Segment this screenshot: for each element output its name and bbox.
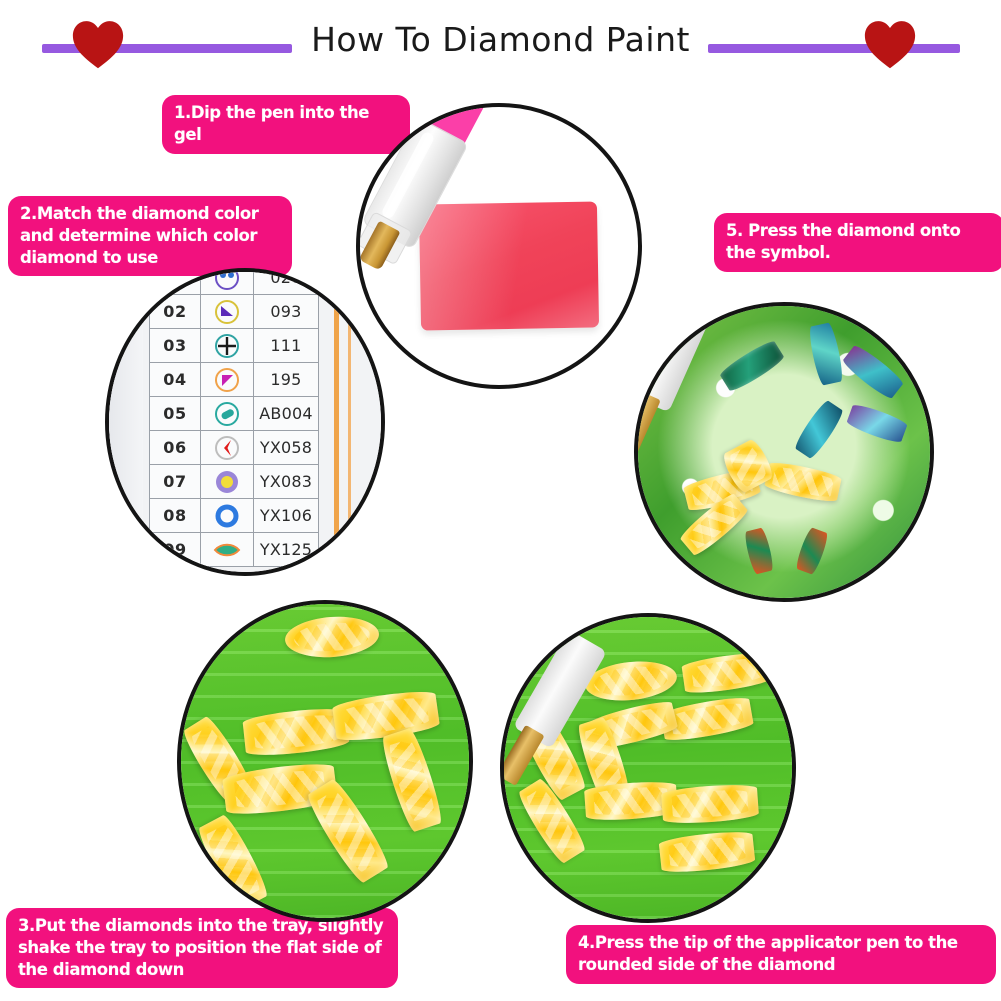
tray-diamond <box>379 727 446 834</box>
red-arrow-left-symbol <box>201 431 254 465</box>
tray-diamond <box>194 812 271 911</box>
canvas-gem <box>718 338 786 394</box>
legend-number: 04 <box>150 363 201 397</box>
green-leaf-symbol <box>201 533 254 567</box>
poster-canvas: How To Diamond Paint 1.Dip the pen into … <box>0 0 1001 1001</box>
magenta-triangle-symbol <box>201 363 254 397</box>
yellow-dot-symbol <box>201 465 254 499</box>
step-5-label: 5. Press the diamond onto the symbol. <box>714 213 1001 272</box>
legend-row: 01020 <box>150 268 319 295</box>
step-3-photo <box>177 600 473 922</box>
step-5-photo <box>634 302 934 602</box>
pen-tip <box>634 391 661 453</box>
tray-diamond <box>658 830 755 876</box>
legend-code: YX058 <box>254 431 319 465</box>
legend-row: 09YX125 <box>150 533 319 567</box>
step-4-photo <box>500 613 796 923</box>
legend-row: 08YX106 <box>150 499 319 533</box>
legend-number: 03 <box>150 329 201 363</box>
canvas-gem <box>807 322 845 386</box>
legend-row: 07YX083 <box>150 465 319 499</box>
diamond-tray <box>504 617 792 919</box>
step-1-photo <box>356 103 642 389</box>
legend-code: 020 <box>254 268 319 295</box>
gel-pad <box>419 201 599 330</box>
applicator-pen <box>634 302 722 476</box>
legend-row: 05AB004 <box>150 397 319 431</box>
color-legend-table: 0102002093031110419505AB00406YX05807YX08… <box>149 268 319 567</box>
teal-capsule-symbol <box>201 397 254 431</box>
legend-number: 01 <box>150 268 201 295</box>
double-dot-circle-symbol <box>201 268 254 295</box>
canvas-gem <box>841 342 906 401</box>
chart-orange-stripe-secondary <box>348 272 351 572</box>
purple-triangle-symbol <box>201 295 254 329</box>
legend-code: 111 <box>254 329 319 363</box>
pen-tip <box>500 725 545 786</box>
diamond-tray <box>181 604 469 918</box>
tray-diamond <box>283 613 380 659</box>
canvas-gem <box>792 398 845 460</box>
legend-number: 09 <box>150 533 201 567</box>
legend-number: 05 <box>150 397 201 431</box>
legend-code: 195 <box>254 363 319 397</box>
chart-orange-stripe <box>334 272 339 572</box>
page-title: How To Diamond Paint <box>0 20 1001 59</box>
tray-diamond <box>661 783 759 826</box>
legend-number: 08 <box>150 499 201 533</box>
legend-code: YX083 <box>254 465 319 499</box>
legend-number: 06 <box>150 431 201 465</box>
tray-diamond <box>681 650 771 696</box>
step-2-photo: 0102002093031110419505AB00406YX05807YX08… <box>105 268 385 576</box>
legend-row: 03111 <box>150 329 319 363</box>
tray-diamond <box>304 777 393 886</box>
poster-header: How To Diamond Paint <box>0 0 1001 78</box>
legend-number: 07 <box>150 465 201 499</box>
blue-ring-symbol <box>201 499 254 533</box>
legend-code: YX125 <box>254 533 319 567</box>
legend-number: 02 <box>150 295 201 329</box>
legend-code: AB004 <box>254 397 319 431</box>
canvas-gem <box>794 526 830 575</box>
canvas-gem <box>743 527 775 575</box>
step-2-label: 2.Match the diamond color and determine … <box>8 196 292 276</box>
plus-cross-symbol <box>201 329 254 363</box>
legend-code: 093 <box>254 295 319 329</box>
canvas-gem <box>846 402 909 445</box>
legend-row: 02093 <box>150 295 319 329</box>
legend-row: 04195 <box>150 363 319 397</box>
step-4-label: 4.Press the tip of the applicator pen to… <box>566 925 996 984</box>
canvas-gem-yellow <box>764 459 843 504</box>
legend-row: 06YX058 <box>150 431 319 465</box>
legend-code: YX106 <box>254 499 319 533</box>
